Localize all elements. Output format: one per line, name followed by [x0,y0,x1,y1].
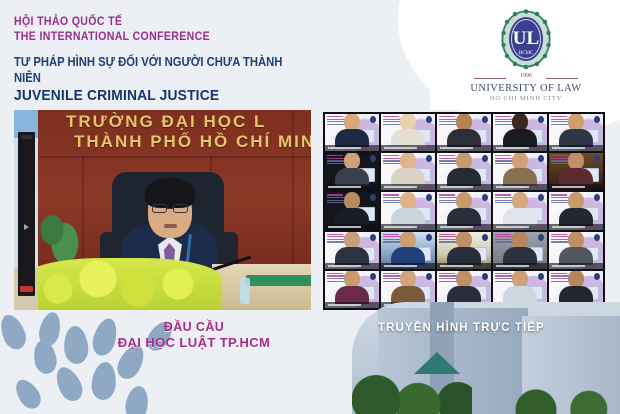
participant-name-bar [549,184,603,190]
participant-name-bar [493,263,547,269]
participant-figure [559,153,593,186]
virtual-background-seal-icon [482,273,488,280]
participant-figure [503,153,537,186]
conference-title-en: THE INTERNATIONAL CONFERENCE [14,29,278,44]
participant-figure [447,232,481,265]
participant-name-bar [325,263,379,269]
conference-topic-en: JUVENILE CRIMINAL JUSTICE [14,86,290,105]
caption-line2: ĐẠI HỌC LUẬT TP.HCM [84,335,304,350]
participant-figure [447,192,481,225]
glasses-lens-right [173,204,188,213]
participant-figure [447,114,481,147]
conference-title-vi: HỘI THẢO QUỐC TẾ [14,14,278,29]
virtual-background-seal-icon [482,116,488,123]
participant-figure [503,232,537,265]
backdrop-text-line1: TRƯỜNG ĐẠI HỌC L [66,112,266,132]
main-speaker-video[interactable]: TRƯỜNG ĐẠI HỌC L THÀNH PHỐ HỒ CHÍ MIN [14,110,311,310]
university-building-photo [352,302,620,414]
virtual-background-seal-icon [538,234,544,241]
petal-shape [51,363,87,405]
participant-name-bar [325,184,379,190]
participant-name-bar [325,145,379,151]
participant-figure [559,114,593,147]
participant-figure [391,114,425,147]
university-emblem-icon: UL HCMC [499,8,553,70]
participant-figure [335,232,369,265]
participant-tile[interactable] [325,114,379,151]
participant-tile[interactable] [549,114,603,151]
foreground-trees-left [352,366,472,414]
participant-name-bar [549,145,603,151]
participant-name-bar [493,184,547,190]
speaker-mouth [164,224,177,228]
participant-name-bar [437,184,491,190]
record-indicator-icon [20,286,33,292]
live-broadcast-caption: TRUYỀN HÌNH TRỰC TIẾP [378,322,545,334]
virtual-background-seal-icon [594,273,600,280]
participant-name-bar [381,184,435,190]
participant-figure [391,153,425,186]
potted-plant [40,206,80,266]
participant-figure [559,192,593,225]
participant-tile[interactable] [549,232,603,269]
video-left-overlay [14,110,38,310]
glasses-bridge [166,208,174,209]
participant-tile[interactable] [437,153,491,190]
virtual-background-seal-icon [370,234,376,241]
desk-folder [246,275,311,286]
conference-topic-vi: TƯ PHÁP HÌNH SỰ ĐỐI VỚI NGƯỜI CHƯA THÀNH… [14,54,284,86]
participant-tile[interactable] [325,192,379,229]
participant-figure [391,271,425,304]
petal-shape [11,375,45,413]
university-logo: UL HCMC 1996 UNIVERSITY OF LAW HO CHI MI… [466,8,586,102]
participant-name-bar [437,224,491,230]
virtual-background-seal-icon [426,116,432,123]
participant-tile[interactable] [493,192,547,229]
water-bottle [240,278,250,304]
participant-name-bar [549,224,603,230]
participant-figure [503,192,537,225]
zoom-participant-grid[interactable] [323,112,605,310]
conference-desk [212,264,311,310]
virtual-background-seal-icon [538,273,544,280]
caption-line1: ĐẦU CẦU [84,320,304,334]
virtual-background-seal-icon [426,234,432,241]
virtual-background-seal-icon [594,234,600,241]
participant-tile[interactable] [381,153,435,190]
participant-name-bar [381,224,435,230]
participant-tile[interactable] [325,232,379,269]
participant-figure [447,153,481,186]
participant-tile[interactable] [437,192,491,229]
participant-tile[interactable] [493,232,547,269]
participant-tile[interactable] [437,232,491,269]
participant-name-bar [549,263,603,269]
conference-title-block: HỘI THẢO QUỐC TẾ THE INTERNATIONAL CONFE… [14,14,314,105]
virtual-background-seal-icon [482,234,488,241]
grid-container [325,114,603,308]
left-caption-block: ĐẦU CẦU ĐẠI HỌC LUẬT TP.HCM [84,320,304,350]
participant-name-bar [437,145,491,151]
virtual-background-seal-icon [426,273,432,280]
participant-figure [391,232,425,265]
petal-shape [37,310,64,347]
petal-shape [0,311,30,353]
logo-subtitle: HO CHI MINH CITY [466,95,586,102]
participant-tile[interactable] [325,153,379,190]
participant-figure [447,271,481,304]
participant-figure [335,153,369,186]
logo-year: 1996 [474,73,578,79]
participant-tile[interactable] [437,114,491,151]
participant-figure [559,271,593,304]
participant-figure [559,232,593,265]
conference-poster: HỘI THẢO QUỐC TẾ THE INTERNATIONAL CONFE… [0,0,620,414]
participant-tile[interactable] [381,114,435,151]
play-icon[interactable] [24,224,29,230]
participant-tile[interactable] [381,232,435,269]
participant-tile[interactable] [549,192,603,229]
participant-name-bar [325,224,379,230]
foreground-trees-right [500,380,620,414]
participant-figure [335,192,369,225]
virtual-background-seal-icon [370,273,376,280]
petal-shape [123,384,151,414]
participant-tile[interactable] [381,192,435,229]
petal-decoration [0,300,190,414]
virtual-background-seal-icon [594,116,600,123]
participant-figure [335,271,369,304]
panel-header-chip [21,135,32,139]
svg-text:UL: UL [513,28,539,49]
participant-name-bar [493,145,547,151]
glasses-lens-left [152,204,167,213]
participant-figure [503,114,537,147]
participant-tile[interactable] [493,153,547,190]
participant-figure [503,271,537,304]
petal-shape [90,361,118,401]
virtual-background-seal-icon [370,116,376,123]
participant-name-bar [437,263,491,269]
participant-name-bar [381,145,435,151]
logo-name: UNIVERSITY OF LAW [466,83,586,94]
logo-divider: 1996 [474,74,578,82]
participant-tile[interactable] [549,153,603,190]
participant-tile[interactable] [493,114,547,151]
participant-name-bar [493,224,547,230]
participant-figure [391,192,425,225]
participant-name-bar [381,263,435,269]
virtual-background-seal-icon [538,116,544,123]
svg-text:HCMC: HCMC [519,51,534,56]
participant-figure [335,114,369,147]
backdrop-text-line2: THÀNH PHỐ HỒ CHÍ MIN [74,132,311,152]
player-side-panel[interactable] [18,132,35,296]
